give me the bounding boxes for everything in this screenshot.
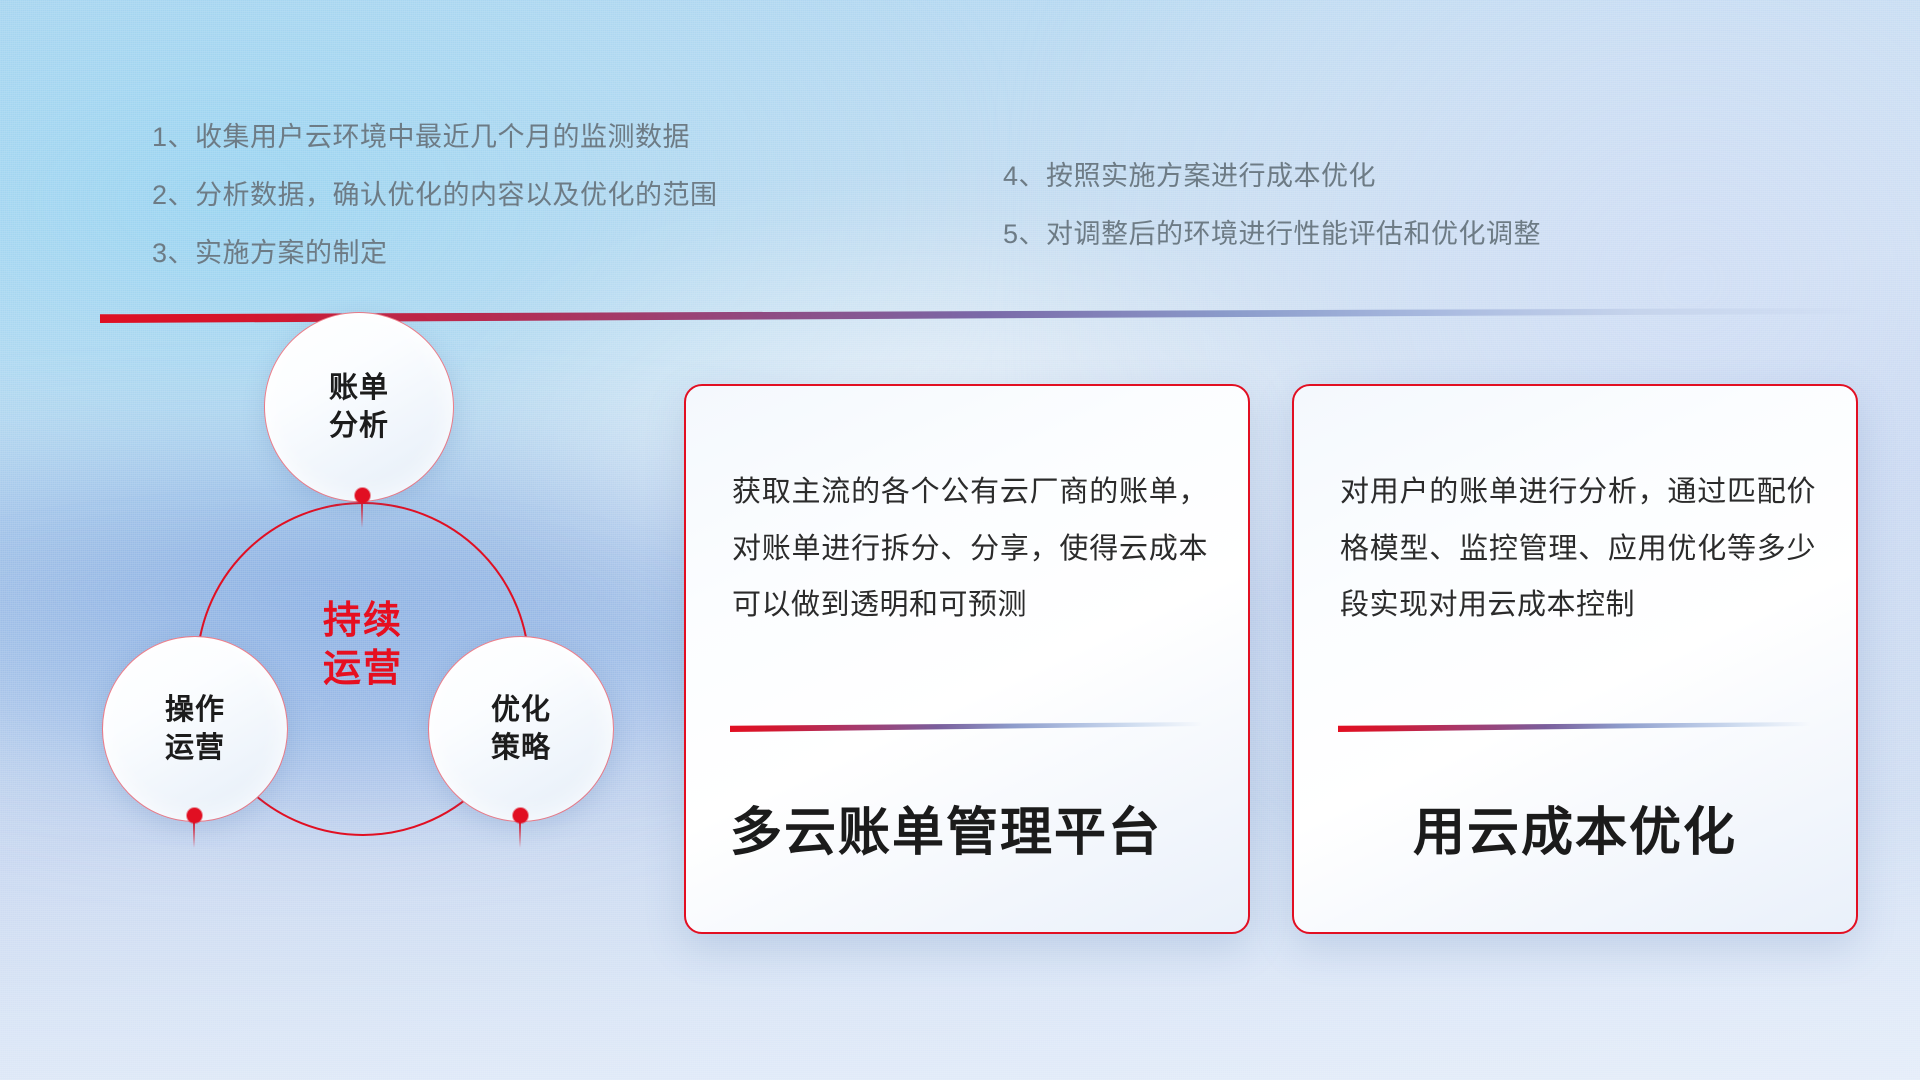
steps-list-left: 1、收集用户云环境中最近几个月的监测数据 2、分析数据，确认优化的内容以及优化的… xyxy=(152,124,718,298)
step-item-3: 3、实施方案的制定 xyxy=(152,240,718,267)
feature-card-multicloud-billing[interactable]: 获取主流的各个公有云厂商的账单，对账单进行拆分、分享，使得云成本可以做到透明和可… xyxy=(684,384,1250,934)
diagram-node-tail-top xyxy=(361,502,363,528)
steps-list-right: 4、按照实施方案进行成本优化 5、对调整后的环境进行性能评估和优化调整 xyxy=(1003,163,1541,279)
diagram-node-dot-right xyxy=(513,808,528,823)
center-label-line2: 运营 xyxy=(263,646,463,694)
bubble-left-line1: 操作 xyxy=(165,691,225,729)
feature-card-cloud-cost-optimization[interactable]: 对用户的账单进行分析，通过匹配价格模型、监控管理、应用优化等多少段实现对用云成本… xyxy=(1292,384,1858,934)
diagram-node-dot-top xyxy=(355,488,370,503)
center-label-line1: 持续 xyxy=(263,598,463,646)
card-1-rule xyxy=(730,722,1202,732)
card-2-body: 对用户的账单进行分析，通过匹配价格模型、监控管理、应用优化等多少段实现对用云成本… xyxy=(1340,464,1816,634)
step-item-4: 4、按照实施方案进行成本优化 xyxy=(1003,163,1541,190)
diagram-bubble-operations[interactable]: 操作 运营 xyxy=(102,636,288,822)
card-2-rule xyxy=(1338,722,1810,732)
diagram-node-tail-right xyxy=(519,822,521,848)
step-item-5: 5、对调整后的环境进行性能评估和优化调整 xyxy=(1003,221,1541,248)
bubble-top-line2: 分析 xyxy=(329,407,389,445)
bubble-right-line2: 策略 xyxy=(491,729,551,767)
diagram-bubble-billing-analysis[interactable]: 账单 分析 xyxy=(264,312,454,502)
diagram-node-dot-left xyxy=(187,808,202,823)
card-1-title: 多云账单管理平台 xyxy=(730,790,1218,865)
bubble-right-line1: 优化 xyxy=(491,691,551,729)
diagram-center-label: 持续 运营 xyxy=(263,598,463,693)
continuous-operation-diagram: 账单 分析 操作 运营 优化 策略 持续 运营 xyxy=(96,330,656,970)
card-2-title: 用云成本优化 xyxy=(1324,790,1826,865)
step-item-2: 2、分析数据，确认优化的内容以及优化的范围 xyxy=(152,182,718,209)
step-item-1: 1、收集用户云环境中最近几个月的监测数据 xyxy=(152,124,718,151)
bubble-top-line1: 账单 xyxy=(329,369,389,407)
bubble-left-line2: 运营 xyxy=(165,729,225,767)
card-1-body: 获取主流的各个公有云厂商的账单，对账单进行拆分、分享，使得云成本可以做到透明和可… xyxy=(732,464,1208,634)
diagram-node-tail-left xyxy=(193,822,195,848)
